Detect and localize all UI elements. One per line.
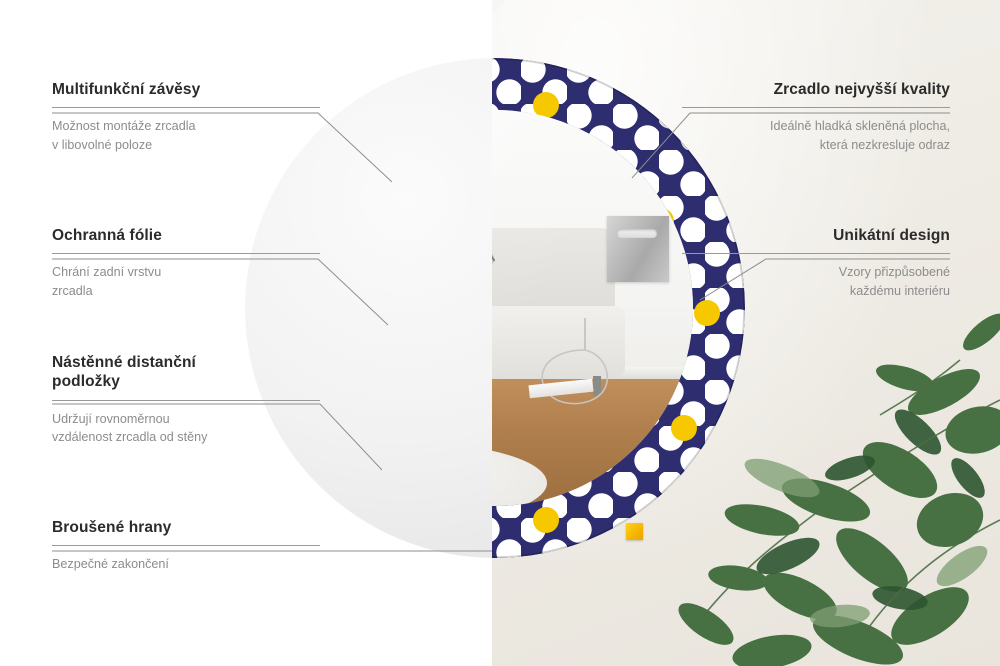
callout-multifunkcni-zavesy: Multifunkční závěsy Možnost montáže zrca… xyxy=(52,80,320,154)
callout-title: Zrcadlo nejvyšší kvality xyxy=(682,80,950,99)
callout-title: Nástěnné distanční podložky xyxy=(52,353,320,392)
callout-description: Chrání zadní vrstvu zrcadla xyxy=(52,263,320,300)
callout-title: Multifunkční závěsy xyxy=(52,80,320,99)
infographic-canvas: Multifunkční závěsy Možnost montáže zrca… xyxy=(0,0,1000,666)
callout-divider xyxy=(52,107,320,108)
product-mirror xyxy=(245,58,745,558)
callout-title: Ochranná fólie xyxy=(52,226,320,245)
mirror-glass xyxy=(492,110,693,506)
mirror-disc xyxy=(245,58,745,558)
keyhole-hanger-icon xyxy=(607,216,669,282)
callout-title: Unikátní design xyxy=(682,226,950,245)
callout-divider xyxy=(682,253,950,254)
spacer-washer-icon xyxy=(626,523,643,540)
callout-ochranna-folie: Ochranná fólie Chrání zadní vrstvu zrcad… xyxy=(52,226,320,300)
callout-unikatni-design: Unikátní design Vzory přizpůsobené každé… xyxy=(682,226,950,300)
callout-divider xyxy=(682,107,950,108)
callout-description: Udržují rovnoměrnou vzdálenost zrcadla o… xyxy=(52,410,320,447)
hanger-keyhole-slot xyxy=(617,229,657,238)
callout-brousene-hrany: Broušené hrany Bezpečné zakončení xyxy=(52,518,320,574)
callout-description: Možnost montáže zrcadla v libovolné polo… xyxy=(52,117,320,154)
callout-description: Vzory přizpůsobené každému interiéru xyxy=(682,263,950,300)
callout-nastenne-distancni-podlozky: Nástěnné distanční podložky Udržují rovn… xyxy=(52,353,320,446)
callout-divider xyxy=(52,400,320,401)
callout-divider xyxy=(52,253,320,254)
callout-description: Bezpečné zakončení xyxy=(52,555,320,573)
callout-title: Broušené hrany xyxy=(52,518,320,537)
callout-description: Ideálně hladká skleněná plocha, která ne… xyxy=(682,117,950,154)
callout-zrcadlo-nejvyssi-kvality: Zrcadlo nejvyšší kvality Ideálně hladká … xyxy=(682,80,950,154)
callout-divider xyxy=(52,545,320,546)
